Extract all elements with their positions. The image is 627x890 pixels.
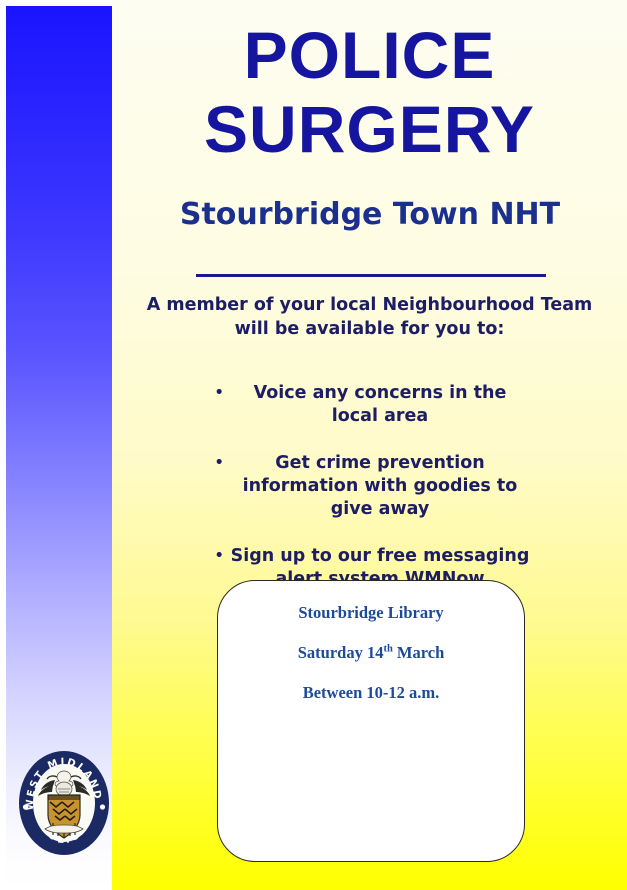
poster-intro-text: A member of your local Neighbourhood Tea…	[142, 294, 597, 341]
event-venue: Stourbridge Library	[218, 603, 524, 623]
police-surgery-poster: POLICE SURGERY Stourbridge Town NHT A me…	[0, 0, 627, 890]
poster-subtitle: Stourbridge Town NHT	[140, 197, 600, 232]
title-divider-rule	[196, 274, 546, 277]
bullet-text-concerns: Voice any concerns in the local area	[230, 382, 530, 428]
list-item: • Voice any concerns in the local area	[132, 382, 612, 428]
event-date: Saturday 14th March	[218, 643, 524, 663]
list-item: • Get crime prevention information with …	[132, 452, 612, 521]
event-details-inner: Stourbridge Library Saturday 14th March …	[218, 581, 524, 703]
poster-title: POLICE SURGERY	[112, 18, 627, 166]
title-line-surgery: SURGERY	[112, 92, 627, 166]
west-midlands-police-badge-icon: WEST MIDLANDS POLICE	[17, 747, 111, 857]
event-date-ordinal: th	[383, 644, 392, 655]
event-details-box: Stourbridge Library Saturday 14th March …	[217, 580, 525, 862]
event-time: Between 10-12 a.m.	[218, 683, 524, 703]
title-line-police: POLICE	[112, 18, 627, 92]
poster-content-column: POLICE SURGERY Stourbridge Town NHT A me…	[112, 0, 627, 890]
event-date-suffix: March	[393, 643, 444, 662]
bullet-dot-icon: •	[214, 452, 230, 521]
bullet-dot-icon: •	[214, 382, 230, 428]
top-white-margin	[0, 0, 112, 6]
event-date-prefix: Saturday 14	[298, 643, 384, 662]
bullet-text-crime-prevention: Get crime prevention information with go…	[230, 452, 530, 521]
left-white-margin	[0, 0, 6, 890]
